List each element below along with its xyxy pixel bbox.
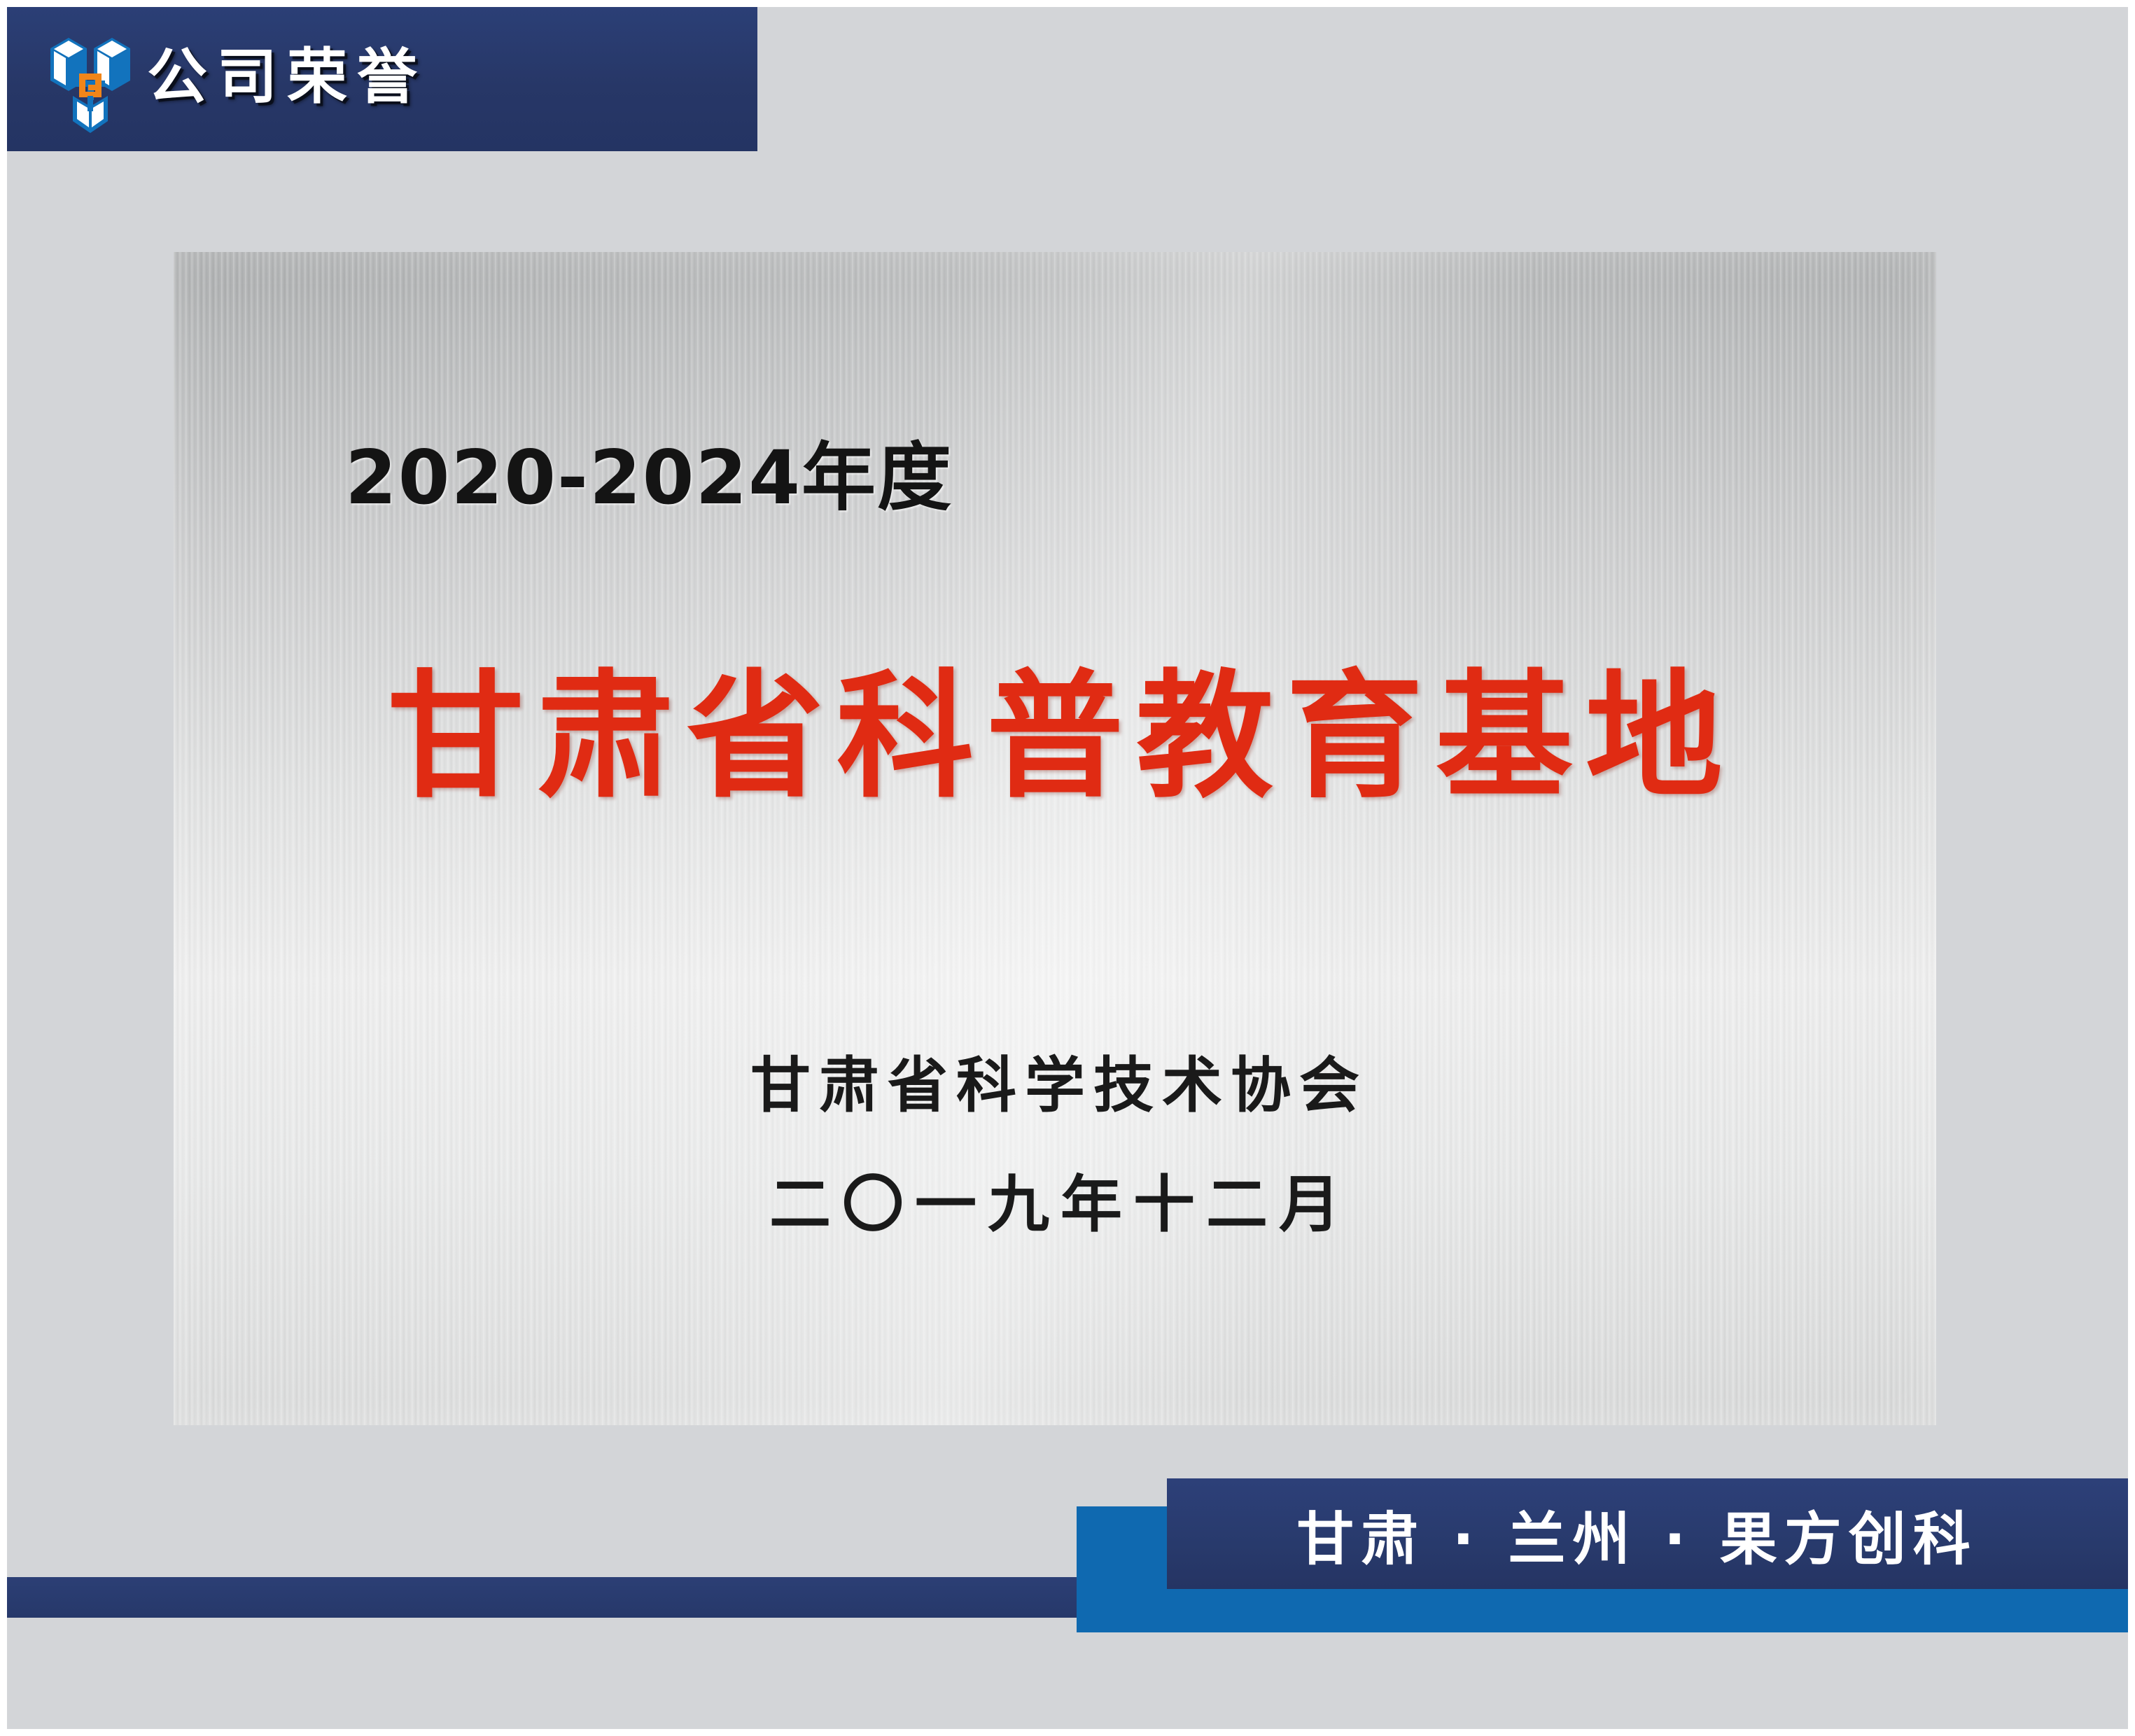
poster-canvas: 公司荣誉 2020-2024年度 甘肃省科普教育基地 甘肃省科学技术协会 二〇一… (0, 0, 2135, 1736)
page-title: 公司荣誉 (147, 47, 427, 111)
footer-location-text: 甘肃 · 兰州 · 果方创科 (1289, 1492, 2019, 1576)
footer-banner: 甘肃 · 兰州 · 果方创科 (1167, 1478, 2135, 1589)
award-plaque: 2020-2024年度 甘肃省科普教育基地 甘肃省科学技术协会 二〇一九年十二月 (174, 252, 1936, 1425)
plaque-issue-date: 二〇一九年十二月 (174, 1155, 1936, 1244)
footer-left-accent-stripe (7, 1577, 1077, 1618)
plaque-main-title: 甘肃省科普教育基地 (174, 668, 1936, 806)
plaque-year-range: 2020-2024年度 (345, 417, 953, 525)
plaque-issuer-name: 甘肃省科学技术协会 (174, 1036, 1936, 1123)
guofang-cube-logo-icon (48, 23, 133, 135)
header-banner: 公司荣誉 (7, 7, 757, 151)
